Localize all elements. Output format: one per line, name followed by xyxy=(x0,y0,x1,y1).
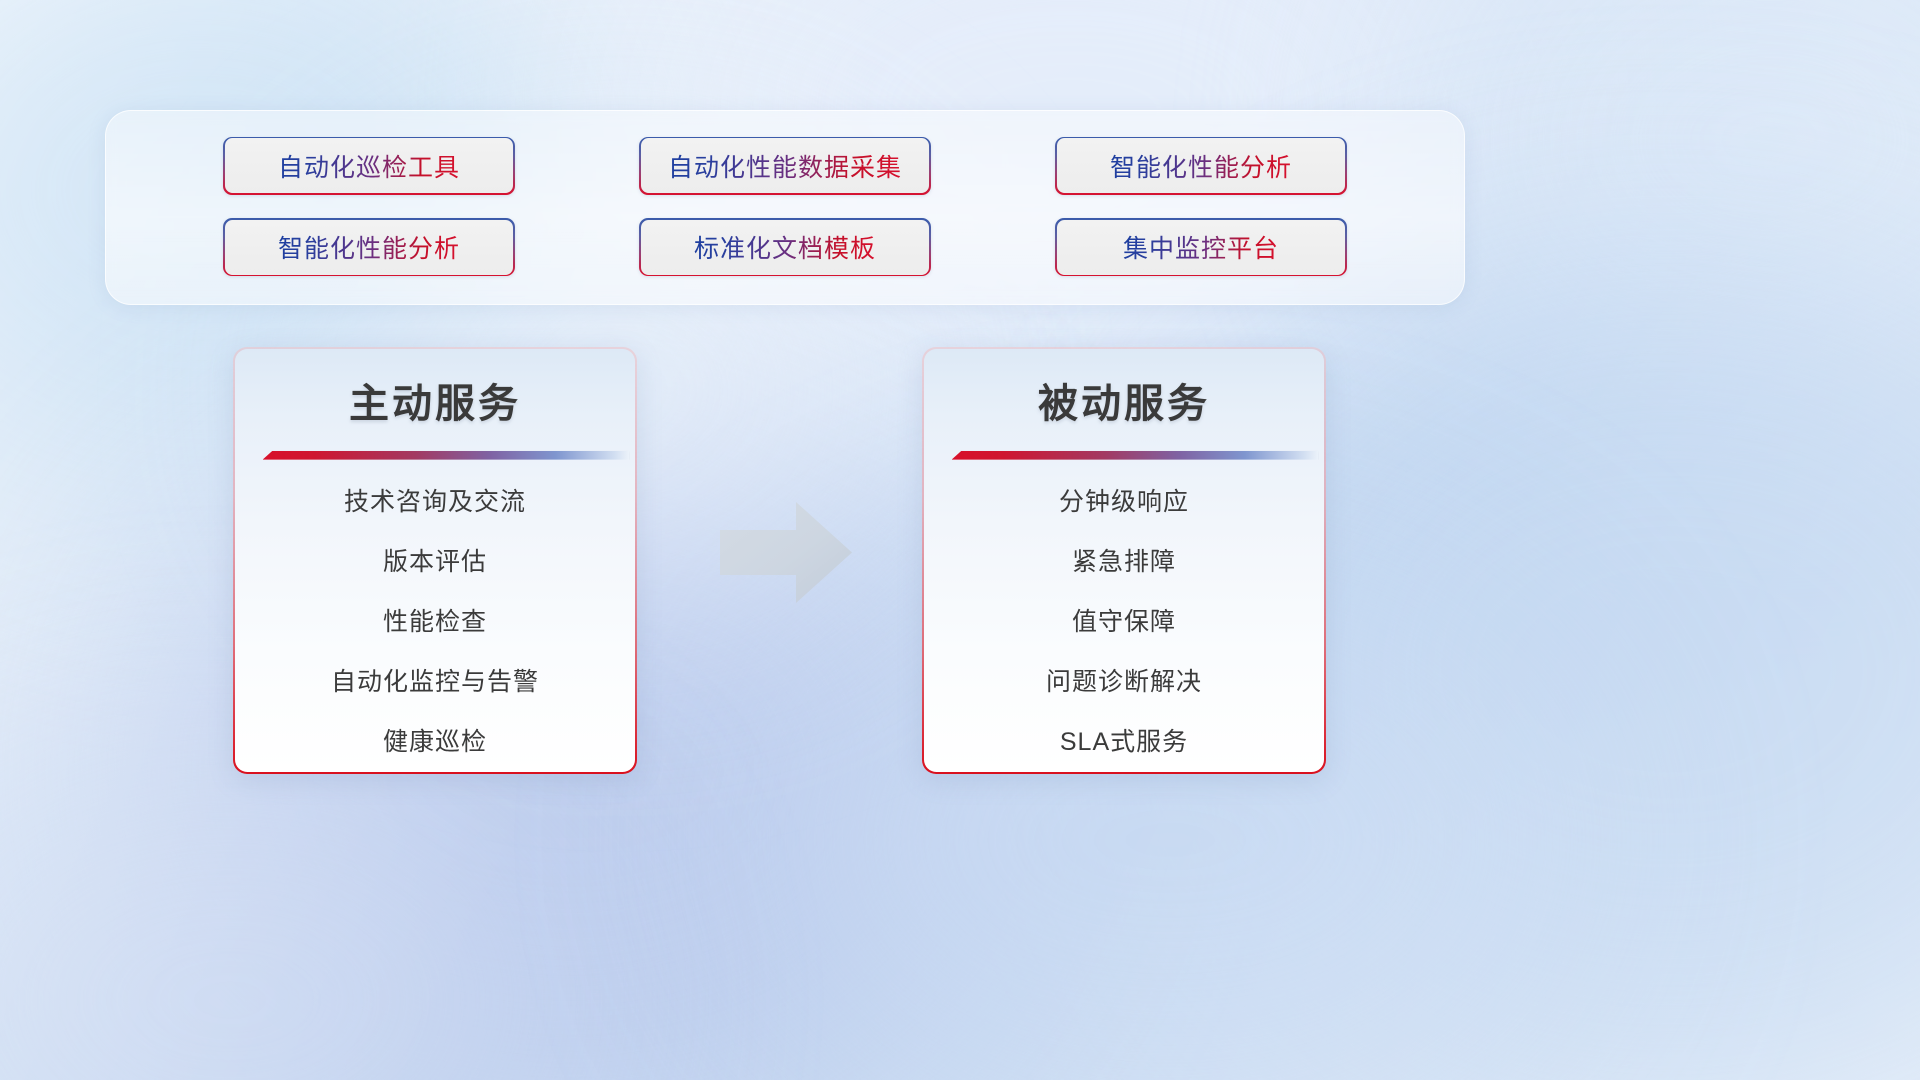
capability-pill-1-label: 自动化巡检工具 xyxy=(278,148,460,184)
capability-pill-6-inner: 集中监控平台 xyxy=(1057,220,1346,275)
list-item: 分钟级响应 xyxy=(1059,472,1189,532)
service-card-proactive[interactable]: 主动服务 技术咨询及交流 版本评估 性能检查 自动化监控与告警 健康巡检 xyxy=(233,347,637,774)
service-card-proactive-divider-wrap xyxy=(235,445,636,459)
gradient-divider-icon xyxy=(952,451,1319,460)
right-arrow-icon xyxy=(718,500,854,605)
service-card-reactive-divider-wrap xyxy=(924,445,1325,459)
list-item: 问题诊断解决 xyxy=(1046,652,1202,712)
capability-pill-1-inner: 自动化巡检工具 xyxy=(225,138,514,193)
capability-pill-5-label: 标准化文档模板 xyxy=(694,229,876,265)
capability-pill-2-inner: 自动化性能数据采集 xyxy=(641,138,930,193)
service-card-reactive-inner: 被动服务 分钟级响应 紧急排障 值守保障 问题诊断解决 SLA式服务 xyxy=(924,349,1325,773)
list-item: 版本评估 xyxy=(383,532,487,592)
service-card-proactive-list: 技术咨询及交流 版本评估 性能检查 自动化监控与告警 健康巡检 xyxy=(235,472,636,772)
list-item: 性能检查 xyxy=(383,592,487,652)
list-item: 值守保障 xyxy=(1072,592,1176,652)
capability-pill-6-label: 集中监控平台 xyxy=(1123,229,1279,265)
capability-pill-4-label: 智能化性能分析 xyxy=(278,229,460,265)
list-item: 技术咨询及交流 xyxy=(344,472,526,532)
capability-pill-5[interactable]: 标准化文档模板 xyxy=(639,218,931,276)
capability-pill-2[interactable]: 自动化性能数据采集 xyxy=(639,137,931,195)
list-item: 自动化监控与告警 xyxy=(331,652,539,712)
capability-pill-grid: 自动化巡检工具 自动化性能数据采集 智能化性能分析 智能化性能分析 标准化文档模… xyxy=(106,111,1464,304)
gradient-divider-icon xyxy=(263,451,630,460)
capability-pill-3-inner: 智能化性能分析 xyxy=(1057,138,1346,193)
capability-panel: 自动化巡检工具 自动化性能数据采集 智能化性能分析 智能化性能分析 标准化文档模… xyxy=(105,110,1465,305)
capability-pill-2-label: 自动化性能数据采集 xyxy=(668,148,902,184)
service-card-proactive-title: 主动服务 xyxy=(349,371,521,429)
capability-pill-4[interactable]: 智能化性能分析 xyxy=(223,218,515,276)
service-card-proactive-inner: 主动服务 技术咨询及交流 版本评估 性能检查 自动化监控与告警 健康巡检 xyxy=(235,349,636,773)
capability-pill-3-label: 智能化性能分析 xyxy=(1110,148,1292,184)
list-item: 紧急排障 xyxy=(1072,532,1176,592)
capability-pill-5-inner: 标准化文档模板 xyxy=(641,220,930,275)
capability-pill-6[interactable]: 集中监控平台 xyxy=(1055,218,1347,276)
service-card-reactive-list: 分钟级响应 紧急排障 值守保障 问题诊断解决 SLA式服务 xyxy=(924,472,1325,772)
list-item: 健康巡检 xyxy=(383,712,487,772)
capability-pill-1[interactable]: 自动化巡检工具 xyxy=(223,137,515,195)
service-card-reactive[interactable]: 被动服务 分钟级响应 紧急排障 值守保障 问题诊断解决 SLA式服务 xyxy=(922,347,1326,774)
capability-pill-3[interactable]: 智能化性能分析 xyxy=(1055,137,1347,195)
list-item: SLA式服务 xyxy=(1060,712,1188,772)
capability-pill-4-inner: 智能化性能分析 xyxy=(225,220,514,275)
service-card-reactive-title: 被动服务 xyxy=(1038,371,1210,429)
